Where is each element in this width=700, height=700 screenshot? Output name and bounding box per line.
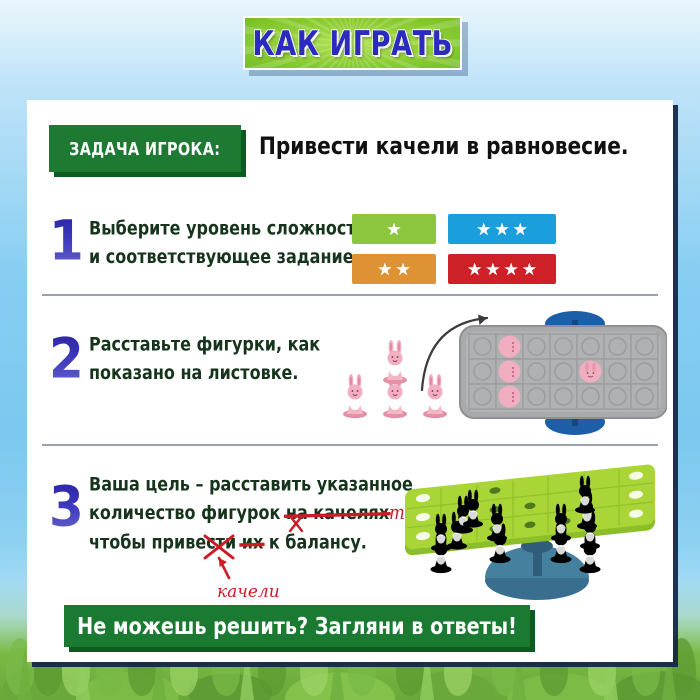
section-divider — [42, 294, 658, 296]
step-3: 3 Ваша цель – расставить указанное колич… — [27, 448, 673, 610]
step-1-text: Выберите уровень сложности и соответству… — [89, 214, 367, 271]
step-3-illustration: .r .bb{fill:#d32026;} .r .bs{fill:#a8171… — [397, 450, 673, 602]
step-2-number: 2 — [49, 327, 84, 391]
task-description: Привести качели в равновесие. — [259, 132, 629, 159]
star-icon: ★ — [485, 261, 500, 278]
step-3-line-2-prefix: количество фигурок — [89, 502, 286, 524]
step-2-illustration — [327, 298, 667, 444]
star-icon: ★ — [522, 261, 537, 278]
star-icon: ★ — [476, 221, 491, 238]
page-title: КАК ИГРАТЬ — [252, 23, 452, 63]
star-icon: ★ — [386, 221, 401, 238]
step-3-margin-note: качели — [217, 582, 280, 602]
step-1: 1 Выберите уровень сложности и соответст… — [27, 200, 673, 294]
task-badge-label: ЗАДАЧА ИГРОКА: — [69, 138, 220, 159]
step-2-line-1: Расставьте фигурки, как — [89, 333, 320, 355]
answers-cta-text: Не можешь решить? Загляни в ответы! — [77, 612, 517, 640]
star-icon: ★ — [467, 261, 482, 278]
step-3-text: Ваша цель – расставить указанное количес… — [89, 470, 430, 557]
difficulty-chip-4-stars[interactable]: ★ ★ ★ ★ — [448, 254, 556, 284]
step-3-number: 3 — [49, 475, 84, 539]
step-1-line-1: Выберите уровень сложности — [89, 217, 367, 239]
red-replacement-arrow-icon — [199, 532, 257, 584]
step-3-line-1: Ваша цель – расставить указанное — [89, 473, 413, 495]
star-icon: ★ — [396, 261, 411, 278]
star-icon: ★ — [504, 261, 519, 278]
instructions-card: ЗАДАЧА ИГРОКА: Привести качели в равнове… — [27, 100, 673, 662]
step-2-line-2: показано на листовке. — [89, 362, 299, 384]
star-icon: ★ — [377, 261, 392, 278]
poster-root: КАК ИГРАТЬ ЗАДАЧА ИГРОКА: Привести качел… — [0, 0, 700, 700]
red-insert-caret-icon — [286, 511, 320, 545]
how-to-play-banner: КАК ИГРАТЬ — [243, 16, 462, 70]
difficulty-chip-3-stars[interactable]: ★ ★ ★ — [448, 214, 556, 244]
step-1-number: 1 — [49, 209, 84, 273]
difficulty-chip-2-stars[interactable]: ★ ★ — [352, 254, 436, 284]
step-1-line-2: и соответствующее задание. — [89, 246, 360, 268]
difficulty-levels: ★ ★ ★ ★ ★ ★ ★ ★ ★ ★ — [352, 214, 556, 284]
step-2-text: Расставьте фигурки, как показано на лист… — [89, 330, 320, 387]
task-badge: ЗАДАЧА ИГРОКА: — [49, 125, 241, 172]
step-2: 2 Расставьте фигурки, как показано на ли… — [27, 298, 673, 444]
task-header-row: ЗАДАЧА ИГРОКА: Привести качели в равнове… — [27, 100, 673, 195]
answers-cta-banner[interactable]: Не можешь решить? Загляни в ответы! — [64, 605, 530, 647]
star-icon: ★ — [513, 221, 528, 238]
difficulty-chip-1-star[interactable]: ★ — [352, 214, 436, 244]
section-divider — [42, 444, 658, 446]
star-icon: ★ — [494, 221, 509, 238]
